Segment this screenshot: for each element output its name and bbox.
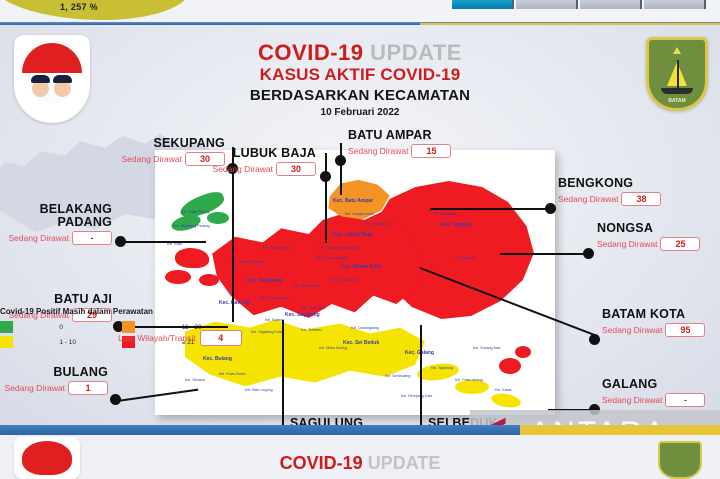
map-label: Kec. Sekupang [247, 278, 283, 284]
marker-dot-belakang-padang[interactable] [115, 236, 126, 247]
callout-value: - [72, 231, 112, 245]
callout-status-label: Sedang Dirawat [122, 154, 182, 164]
callout-value: 25 [660, 237, 700, 251]
marker-dot-nongsa[interactable] [583, 248, 594, 259]
transit-cases-row: Luar Wilayah/Transit 4 [118, 330, 242, 346]
map-island-yellow-c [455, 380, 489, 394]
callout-name: NONGSA [597, 222, 700, 235]
map-label: Kel. Muka Kuning [319, 346, 347, 350]
map-label: Kel. Batu Besar [433, 212, 458, 216]
callout-lubuk-baja[interactable]: LUBUK BAJA Sedang Dirawat 30 [196, 147, 316, 176]
legend-title: Covid-19 Positif Masih dalam Perawatan [0, 307, 242, 316]
previous-slide-strip: 1, 257 % [0, 0, 720, 24]
map-label: Kel. Pulau Abang [455, 378, 483, 382]
map-label: Kel. Tiban Indah [293, 284, 319, 288]
callout-name: BATAM KOTA [602, 308, 705, 321]
title-covid19: COVID-19 [258, 40, 363, 65]
map-label: Kel. Sagulung Kota [251, 330, 282, 334]
map-island-red-i [199, 274, 219, 286]
map-label: Kel. Pulau Buluh [219, 372, 246, 376]
map-label: Kec. Nongsa [441, 222, 471, 228]
callout-nongsa[interactable]: NONGSA Sedang Dirawat 25 [597, 222, 700, 251]
map-island-red-h [165, 270, 191, 284]
legend-swatch-yellow [0, 336, 13, 348]
map-label: Kec. Belakang Padang [173, 224, 210, 228]
next-title-covid19: COVID-19 [280, 453, 363, 473]
map-label: Kel. Setokok [185, 378, 205, 382]
title-line-3: BERDASARKAN KECAMATAN [0, 87, 720, 104]
connector-sei-beduk [420, 325, 422, 437]
transit-label: Luar Wilayah/Transit [118, 333, 196, 343]
progress-segment-2[interactable] [516, 0, 578, 9]
map-island-red-e [499, 358, 521, 374]
map-label: Kel. Batu Legong [245, 388, 273, 392]
connector-bengkong [430, 208, 550, 210]
batam-district-map[interactable]: Kec. Belakang Padang Kel. Pulau Terong K… [155, 150, 555, 415]
callout-name: BELAKANG PADANG [0, 203, 112, 229]
map-label: Kel. Sijantung [431, 366, 453, 370]
legend-swatch-green [0, 321, 13, 333]
map-island-red-g [175, 248, 209, 268]
map-label: Kel. Tiban Baru [301, 306, 326, 310]
covid-infographic-poster: BATAM COVID-19 UPDATE KASUS AKTIF COVID-… [0, 25, 720, 425]
connector-nongsa [500, 253, 588, 255]
callout-galang[interactable]: GALANG Sedang Dirawat - [602, 378, 705, 407]
progress-segment-4[interactable] [644, 0, 706, 9]
map-label: Kel. Tanjung Pinggir [231, 260, 263, 264]
connector-belakang-padang [122, 241, 206, 243]
callout-batu-ampar[interactable]: BATU AMPAR Sedang Dirawat 15 [348, 129, 451, 158]
map-label: Kec. Batu Ampar [333, 198, 373, 204]
map-island-red-f [515, 346, 531, 358]
map-label: Kec. Batam Kota [341, 264, 381, 270]
callout-bengkong[interactable]: BENGKONG Sedang Dirawat 38 [558, 177, 661, 206]
map-label: Kel. Sambau [455, 256, 476, 260]
callout-status-label: Sedang Dirawat [9, 233, 69, 243]
callout-name: BULANG [0, 366, 108, 379]
callout-batam-kota[interactable]: BATAM KOTA Sedang Dirawat 95 [602, 308, 705, 337]
map-label: Kec. Lubuk Baja [333, 232, 372, 238]
map-label: Kec. Batu Aji [219, 300, 250, 306]
marker-dot-bulang[interactable] [110, 394, 121, 405]
map-label: Kel. Sembulang [385, 374, 410, 378]
connector-batu-ampar [340, 143, 342, 195]
callout-status-label: Sedang Dirawat [213, 164, 273, 174]
next-yellow-bar [520, 425, 720, 435]
title-line-2: KASUS AKTIF COVID-19 [0, 65, 720, 85]
map-label: Kel. Duriangkang [351, 326, 379, 330]
next-title: COVID-19 UPDATE [0, 453, 720, 474]
previous-percent-text: 1, 257 % [60, 2, 98, 12]
map-label: Kel. Karas [495, 388, 512, 392]
poster-title-block: COVID-19 UPDATE KASUS AKTIF COVID-19 BER… [0, 41, 720, 118]
transit-value: 4 [200, 330, 242, 346]
callout-status-label: Sedang Dirawat [5, 383, 65, 393]
callout-value: 30 [276, 162, 316, 176]
map-label: Kel. Tanjung Sengkuang [319, 246, 358, 250]
next-city-emblem [658, 441, 702, 479]
callout-name: LUBUK BAJA [196, 147, 316, 160]
title-line-1: COVID-19 UPDATE [0, 41, 720, 64]
screenshot-stage: 1, 257 % BAT [0, 0, 720, 479]
map-label: Kel. Tiban Lama [331, 278, 357, 282]
poster-date: 10 Februari 2022 [0, 107, 720, 118]
map-label: Kec. Bengkong [365, 222, 389, 226]
callout-status-label: Sedang Dirawat [602, 395, 662, 405]
callout-value: 95 [665, 323, 705, 337]
callout-value: 38 [621, 192, 661, 206]
marker-dot-batam-kota[interactable] [589, 334, 600, 345]
connector-sagulung [282, 320, 284, 438]
next-blue-bar [0, 425, 520, 435]
map-label: Kel. Sungai Harapan [315, 256, 348, 260]
legend-label: 0 [59, 324, 116, 331]
next-slide-strip: COVID-19 UPDATE [0, 425, 720, 479]
map-island-green-c [207, 212, 229, 224]
legend-label: 1 - 10 [59, 339, 116, 346]
callout-status-label: Sedang Dirawat [602, 325, 662, 335]
map-label: Kec. Sei Beduk [343, 340, 379, 346]
callout-bulang[interactable]: BULANG Sedang Dirawat 1 [0, 366, 108, 395]
map-label: Kel. Sungai Jodoh [345, 212, 374, 216]
callout-name: BATU AMPAR [348, 129, 451, 142]
callout-name: BENGKONG [558, 177, 661, 190]
callout-name: GALANG [602, 378, 705, 391]
callout-name: BATU AJI [0, 293, 112, 306]
map-label: Kel. Pulau Terong [181, 210, 209, 214]
slide-progress-bars[interactable] [452, 0, 706, 9]
callout-value: 1 [68, 381, 108, 395]
callout-status-label: Sedang Dirawat [558, 194, 618, 204]
map-label: Kel. Tanjung Riau [263, 246, 291, 250]
map-label: Kel. Rempang Cate [401, 394, 432, 398]
callout-belakang-padang[interactable]: BELAKANG PADANG Sedang Dirawat - [0, 203, 112, 245]
marker-dot-bengkong[interactable] [545, 203, 556, 214]
map-label: Kec. Sagulung [285, 312, 320, 318]
callout-status-label: Sedang Dirawat [348, 146, 408, 156]
map-label: Kel. Subang Mas [473, 346, 500, 350]
marker-dot-lubuk-baja[interactable] [320, 171, 331, 182]
next-title-update: UPDATE [368, 453, 441, 473]
map-label: Kec. Bulang [203, 356, 232, 362]
map-label: Kel. Patam Lestari [259, 296, 288, 300]
progress-segment-1[interactable] [452, 0, 514, 9]
callout-value: - [665, 393, 705, 407]
connector-lubuk-baja [325, 153, 327, 243]
marker-dot-batu-ampar[interactable] [335, 155, 346, 166]
callout-status-label: Sedang Dirawat [597, 239, 657, 249]
progress-segment-3[interactable] [580, 0, 642, 9]
callout-value: 15 [411, 144, 451, 158]
map-label: Kel. Tembesi [301, 328, 322, 332]
title-update: UPDATE [370, 40, 462, 65]
